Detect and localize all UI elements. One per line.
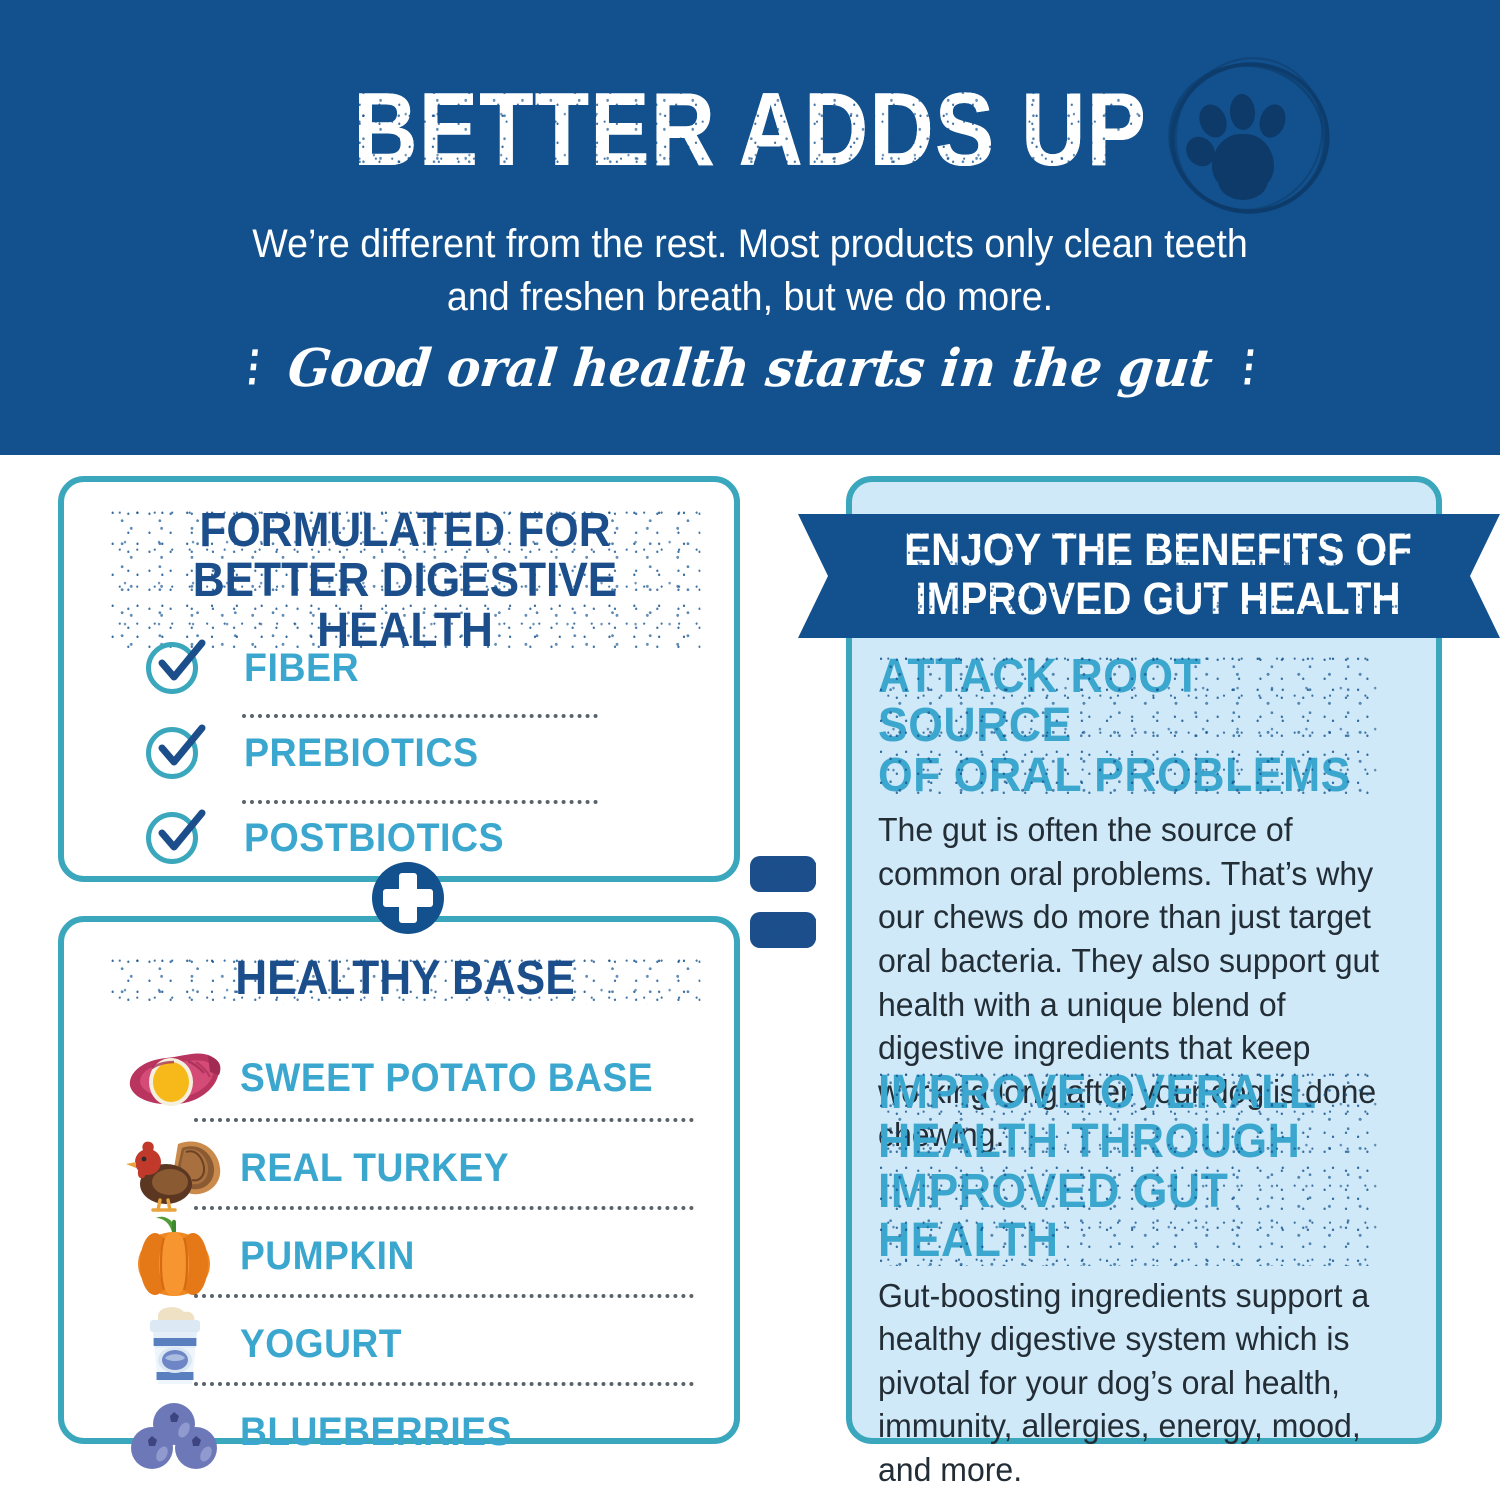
ingredient-label: SWEET POTATO BASE (240, 1056, 653, 1101)
benefit-title-line-3: IMPROVED GUT HEALTH (878, 1167, 1376, 1266)
formulated-card-title: FORMULATED FOR BETTER DIGESTIVE HEALTH (110, 506, 701, 656)
divider-dotted-2 (242, 800, 598, 804)
ingredient-item-yogurt: YOGURT (122, 1298, 414, 1390)
check-mark-icon (157, 724, 207, 772)
checklist-label: POSTBIOTICS (244, 816, 504, 861)
header-subtitle-line-2: and freshen breath, but we do more. (186, 271, 1314, 324)
ingredient-label: REAL TURKEY (240, 1146, 509, 1191)
tagline-ornament-right: ⋮ (1226, 341, 1270, 390)
header-script-tagline: ⋮ Good oral health starts in the gut ⋮ (171, 338, 1329, 399)
equals-icon (750, 856, 816, 948)
checklist-item-fiber: FIBER (146, 642, 367, 694)
checklist-item-prebiotics: PREBIOTICS (146, 727, 493, 779)
plus-icon (372, 862, 444, 934)
healthy-base-card-title: HEALTHY BASE (110, 954, 701, 1004)
equals-bar-top (750, 856, 816, 892)
turkey-icon (122, 1122, 226, 1214)
ribbon-line-2: IMPROVED GUT HEALTH (870, 575, 1446, 624)
benefit-title-line-1: ATTACK ROOT SOURCE (878, 652, 1376, 751)
pumpkin-icon (122, 1210, 226, 1302)
benefits-ribbon-text: ENJOY THE BENEFITS OF IMPROVED GUT HEALT… (870, 526, 1446, 623)
check-mark-icon (157, 809, 207, 857)
page-title-text: BETTER ADDS UP (353, 78, 1147, 182)
check-circle-icon (146, 812, 198, 864)
equals-bar-bottom (750, 912, 816, 948)
checklist-label: PREBIOTICS (244, 731, 479, 776)
check-circle-icon (146, 727, 198, 779)
benefits-ribbon: ENJOY THE BENEFITS OF IMPROVED GUT HEALT… (798, 514, 1500, 638)
ingredient-label: BLUEBERRIES (240, 1410, 512, 1455)
check-mark-icon (157, 639, 207, 687)
paw-print-icon (1168, 56, 1328, 216)
checklist-item-postbiotics: POSTBIOTICS (146, 812, 521, 864)
header-banner: BETTER ADDS UP We’re different from the … (0, 0, 1500, 455)
benefit-section-body: Gut-boosting ingredients support a healt… (878, 1274, 1398, 1491)
sweet-potato-icon (122, 1032, 226, 1124)
ribbon-line-1: ENJOY THE BENEFITS OF (870, 526, 1446, 575)
benefit-title-line-1: IMPROVE OVERALL (878, 1068, 1376, 1117)
benefit-title-line-2: OF ORAL PROBLEMS (878, 751, 1376, 800)
ingredient-item-blueberries: BLUEBERRIES (122, 1386, 532, 1478)
yogurt-cup-icon (122, 1298, 226, 1390)
ingredient-item-real-turkey: REAL TURKEY (122, 1122, 529, 1214)
ingredient-label: YOGURT (240, 1322, 402, 1367)
ingredient-label: PUMPKIN (240, 1234, 415, 1279)
ingredient-item-pumpkin: PUMPKIN (122, 1210, 428, 1302)
healthy-base-card: HEALTHY BASE SWEET POTATO BASE (58, 916, 740, 1444)
divider-dotted-1 (242, 714, 598, 718)
benefit-title-line-2: HEALTH THROUGH (878, 1117, 1376, 1166)
tagline-text: Good oral health starts in the gut (285, 338, 1215, 399)
benefit-section-title: ATTACK ROOT SOURCE OF ORAL PROBLEMS (878, 652, 1376, 800)
header-subtitle: We’re different from the rest. Most prod… (186, 218, 1314, 324)
header-subtitle-line-1: We’re different from the rest. Most prod… (186, 218, 1314, 271)
checklist-label: FIBER (244, 646, 359, 691)
ingredient-item-sweet-potato: SWEET POTATO BASE (122, 1032, 684, 1124)
formulated-card: FORMULATED FOR BETTER DIGESTIVE HEALTH F… (58, 476, 740, 882)
plus-bar-vertical (399, 873, 417, 923)
benefit-section-improve-overall-health: IMPROVE OVERALL HEALTH THROUGH IMPROVED … (878, 1068, 1414, 1491)
tagline-ornament-left: ⋮ (231, 341, 275, 390)
benefit-section-title: IMPROVE OVERALL HEALTH THROUGH IMPROVED … (878, 1068, 1376, 1266)
check-circle-icon (146, 642, 198, 694)
blueberries-icon (122, 1386, 226, 1478)
paw-pad (1212, 134, 1274, 192)
